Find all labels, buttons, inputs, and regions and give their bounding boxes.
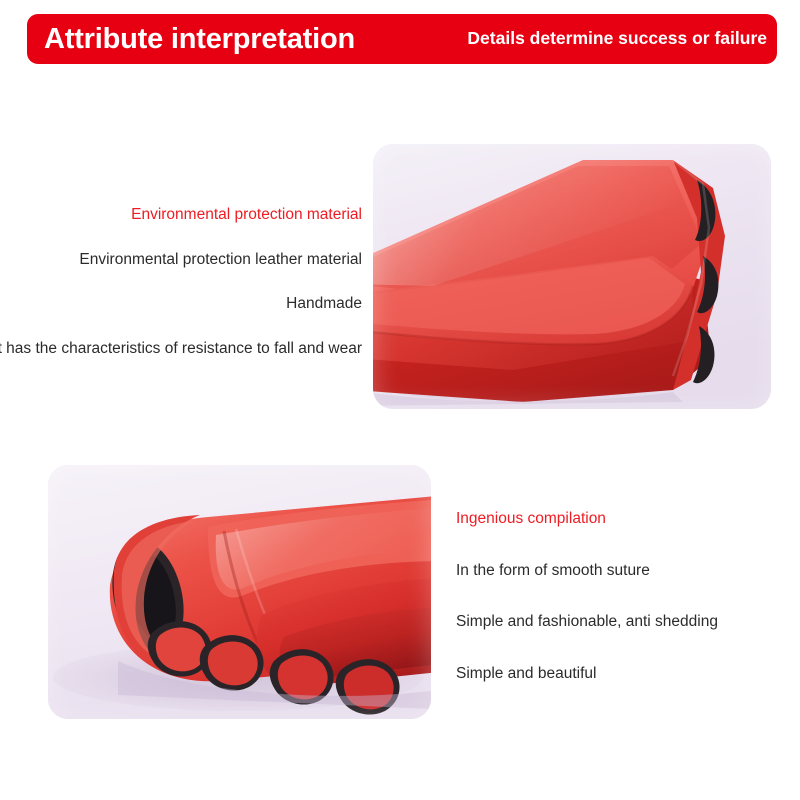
feature-line-material-1: Environmental protection leather materia… [79, 251, 362, 270]
page-title: Attribute interpretation [44, 25, 355, 54]
banner-subtitle: Details determine success or failure [467, 30, 771, 48]
feature-block-compilation: Ingenious compilation In the form of smo… [456, 510, 786, 683]
feature-line-compilation-3: Simple and beautiful [456, 665, 596, 684]
feature-line-compilation-2: Simple and fashionable, anti shedding [456, 613, 718, 632]
product-photo-rolled-leather [48, 465, 431, 719]
feature-heading-material: Environmental protection material [131, 206, 362, 225]
product-photo-top-illustration [373, 144, 771, 409]
header-banner: Attribute interpretation Details determi… [27, 14, 777, 64]
feature-line-material-3: It has the characteristics of resistance… [0, 340, 362, 359]
product-photo-bottom-illustration [48, 465, 431, 719]
product-photo-folded-clutch [373, 144, 771, 409]
feature-line-material-2: Handmade [286, 295, 362, 314]
feature-block-material: Environmental protection material Enviro… [0, 206, 362, 358]
feature-heading-compilation: Ingenious compilation [456, 510, 606, 529]
feature-line-compilation-1: In the form of smooth suture [456, 562, 650, 581]
